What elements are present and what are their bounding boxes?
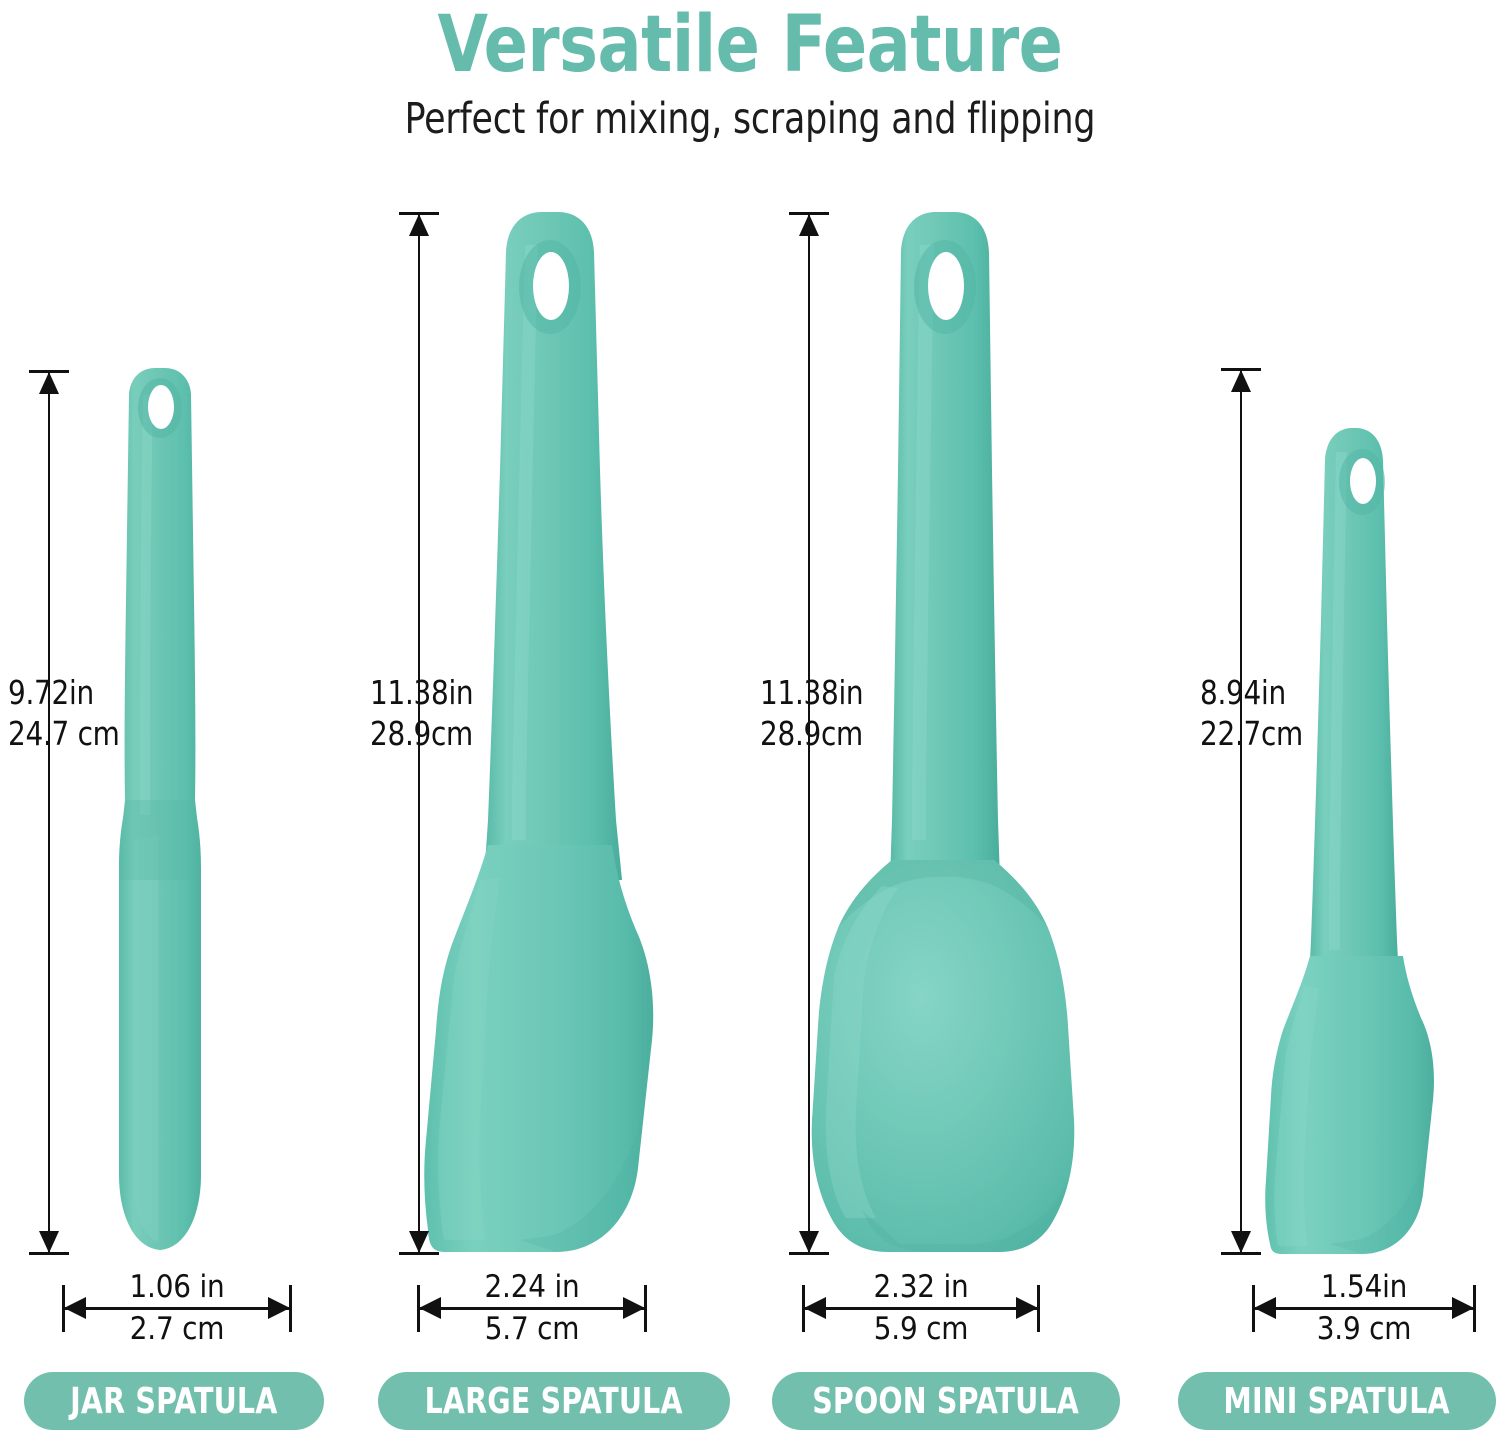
- width-line: [419, 1307, 645, 1310]
- dimension-arrow-up: [799, 214, 819, 236]
- length-inches: 9.72in: [8, 672, 120, 713]
- width-dimension-spoon-spatula: 2.32 in 5.9 cm: [802, 1272, 1040, 1344]
- width-dimension-jar-spatula: 1.06 in 2.7 cm: [62, 1272, 292, 1344]
- mini-spatula-icon: [1140, 0, 1500, 1438]
- width-line: [1254, 1307, 1474, 1310]
- length-cm: 28.9cm: [370, 713, 473, 754]
- width-dimension-mini-spatula: 1.54in 3.9 cm: [1252, 1272, 1476, 1344]
- length-label-mini-spatula: 8.94in 22.7cm: [1200, 672, 1303, 754]
- product-label-text: JAR SPATULA: [70, 1381, 277, 1422]
- length-cm: 22.7cm: [1200, 713, 1303, 754]
- width-cm: 5.7 cm: [417, 1312, 647, 1346]
- length-inches: 11.38in: [760, 672, 863, 713]
- width-inches: 1.06 in: [62, 1270, 292, 1304]
- dimension-cap-bottom: [399, 1252, 439, 1255]
- length-inches: 8.94in: [1200, 672, 1303, 713]
- dimension-arrow-up: [409, 214, 429, 236]
- length-label-spoon-spatula: 11.38in 28.9cm: [760, 672, 863, 754]
- product-column-jar-spatula: 9.72in 24.7 cm 1.06 in 2.7 cm JAR SPATUL…: [0, 0, 360, 1438]
- product-label-text: MINI SPATULA: [1224, 1381, 1450, 1422]
- width-line: [64, 1307, 290, 1310]
- dimension-arrow-up: [1231, 370, 1251, 392]
- length-cm: 24.7 cm: [8, 713, 120, 754]
- product-column-mini-spatula: 8.94in 22.7cm 1.54in 3.9 cm MINI SPATULA: [1140, 0, 1500, 1438]
- length-inches: 11.38in: [370, 672, 473, 713]
- length-cm: 28.9cm: [760, 713, 863, 754]
- width-cm: 3.9 cm: [1252, 1312, 1476, 1346]
- width-cm: 2.7 cm: [62, 1312, 292, 1346]
- dimension-cap-bottom: [29, 1252, 69, 1255]
- width-cm: 5.9 cm: [802, 1312, 1040, 1346]
- dimension-cap-bottom: [789, 1252, 829, 1255]
- dimension-arrow-up: [39, 372, 59, 394]
- product-column-large-spatula: 11.38in 28.9cm 2.24 in 5.7 cm LARGE SPAT…: [360, 0, 750, 1438]
- width-inches: 2.24 in: [417, 1270, 647, 1304]
- dimension-cap-bottom: [1221, 1252, 1261, 1255]
- length-label-large-spatula: 11.38in 28.9cm: [370, 672, 473, 754]
- product-label-text: SPOON SPATULA: [813, 1381, 1080, 1422]
- dimension-arrow-down: [799, 1231, 819, 1253]
- product-column-spoon-spatula: 11.38in 28.9cm 2.32 in 5.9 cm SPOON SPAT…: [750, 0, 1140, 1438]
- dimension-arrow-down: [39, 1231, 59, 1253]
- product-label-jar-spatula[interactable]: JAR SPATULA: [24, 1372, 324, 1430]
- length-dimension-line-jar-spatula: [48, 370, 50, 1255]
- product-label-text: LARGE SPATULA: [425, 1381, 683, 1422]
- length-label-jar-spatula: 9.72in 24.7 cm: [8, 672, 120, 754]
- product-label-large-spatula[interactable]: LARGE SPATULA: [378, 1372, 730, 1430]
- width-inches: 2.32 in: [802, 1270, 1040, 1304]
- dimension-arrow-down: [409, 1231, 429, 1253]
- length-dimension-line-mini-spatula: [1240, 368, 1242, 1255]
- width-inches: 1.54in: [1252, 1270, 1476, 1304]
- width-line: [804, 1307, 1038, 1310]
- dimension-arrow-down: [1231, 1231, 1251, 1253]
- width-dimension-large-spatula: 2.24 in 5.7 cm: [417, 1272, 647, 1344]
- product-label-mini-spatula[interactable]: MINI SPATULA: [1178, 1372, 1496, 1430]
- product-label-spoon-spatula[interactable]: SPOON SPATULA: [772, 1372, 1120, 1430]
